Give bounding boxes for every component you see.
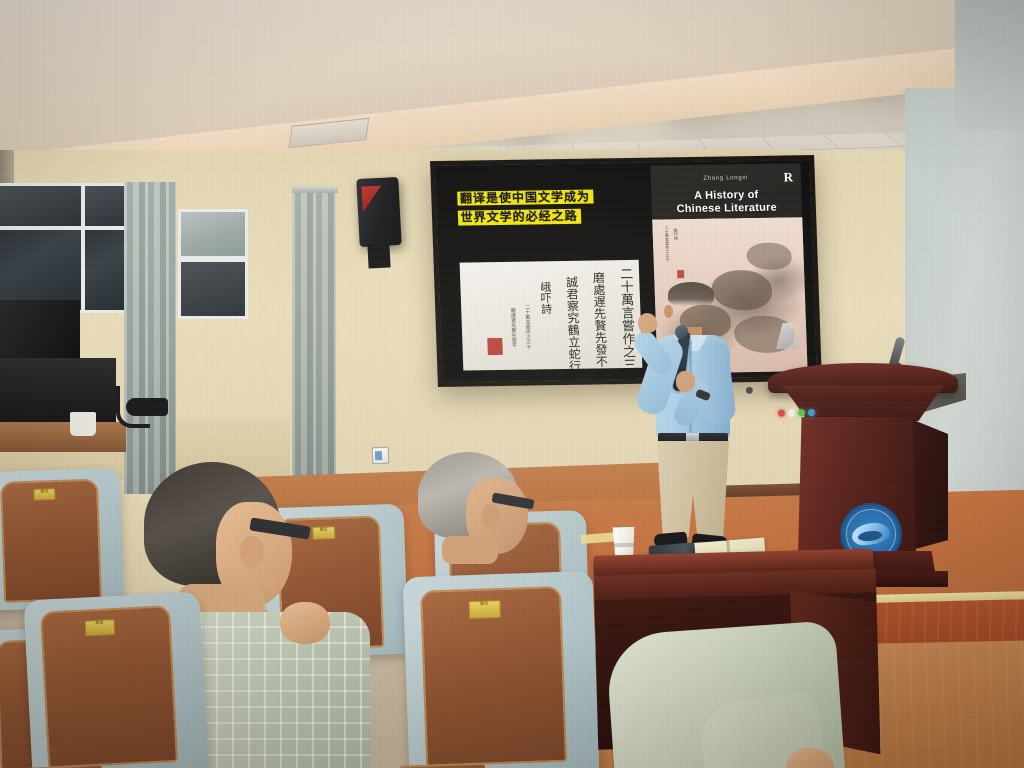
window-pane-frosted <box>178 209 248 259</box>
right-wall-upper <box>955 0 1024 130</box>
attendee-front-left-ear <box>240 536 264 568</box>
presenter <box>640 285 744 553</box>
podium-front-panel <box>798 417 916 557</box>
calligraphy-column-1: 二十萬言嘗作之三千 <box>618 267 634 371</box>
window-pane-upper-3 <box>178 259 248 319</box>
book-art-inscription-2: 峨吓詩 <box>674 229 678 241</box>
seat-number-plaque: 座位 <box>33 488 56 501</box>
paper-cup-band <box>613 543 635 548</box>
presenter-ear <box>664 305 673 318</box>
indicator-light-red[interactable] <box>778 409 785 416</box>
calligraphy-inscription-1: 二十萬言嘗作之三千 <box>524 305 530 350</box>
calligraphy-seal-icon <box>487 338 503 355</box>
corner-cup <box>70 412 96 436</box>
indicator-light-blue[interactable] <box>808 409 815 416</box>
calligraphy-image: 二十萬言嘗作之三千 磨處遅先贅先發不 誠君察究鶴立蛇行 峨吓詩 二十萬言嘗作之三… <box>459 260 642 371</box>
seat-number-plaque: 座位 <box>84 619 115 637</box>
speaker-bracket <box>367 243 390 268</box>
av-equipment <box>0 358 116 432</box>
seat-front-2[interactable]: 座位 <box>23 592 208 768</box>
curtain-right <box>292 190 336 490</box>
book-art-inscription-1: 二十萬言嘗作之三千 <box>664 226 669 262</box>
lecture-hall-photo: 翻译是使中国文学成为 世界文学的必经之路 二十萬言嘗作之三千 磨處遅先贅先發不 … <box>0 0 1024 768</box>
ink-mountain-3 <box>746 242 792 270</box>
slide-highlight-line-1: 翻译是使中国文学成为 <box>457 189 594 206</box>
presenter-hair <box>668 282 714 306</box>
book-title-line-2: Chinese Literature <box>676 201 777 215</box>
calligraphy-inscription-2: 磨處遅先贅先發不 <box>510 307 516 347</box>
attendee-middle-neck <box>442 536 498 564</box>
slide-content: 翻译是使中国文学成为 世界文学的必经之路 二十萬言嘗作之三千 磨處遅先贅先發不 … <box>435 160 817 382</box>
indicator-light-green[interactable] <box>798 409 805 416</box>
attendee-middle-ear <box>482 504 500 528</box>
window-pane-upper-1 <box>0 183 84 229</box>
book-author: Zhang Longxi <box>651 174 801 182</box>
slide-highlight-line-2: 世界文学的必经之路 <box>457 209 581 226</box>
indicator-light-white[interactable] <box>788 409 795 416</box>
presenter-right-hand <box>676 371 695 392</box>
podium-indicator-lights[interactable] <box>778 407 858 416</box>
presenter-trousers <box>657 441 729 537</box>
attendee-right <box>610 628 840 768</box>
projection-screen: 翻译是使中国文学成为 世界文学的必经之路 二十萬言嘗作之三千 磨處遅先贅先發不 … <box>430 155 822 387</box>
podium-lip <box>774 385 952 403</box>
attendee-front-left-hand <box>280 602 330 644</box>
calligraphy-column-2: 磨處遅先贅先發不 <box>592 271 607 367</box>
calligraphy-column-3: 誠君察究鶴立蛇行 <box>565 276 580 371</box>
power-outlet-icon[interactable] <box>372 447 390 465</box>
equipment-table <box>0 422 126 452</box>
seat-number-plaque: 座位 <box>468 600 501 619</box>
book-art-seal-icon <box>676 270 683 278</box>
slide-highlight-block: 翻译是使中国文学成为 世界文学的必经之路 <box>457 187 643 255</box>
seat-back-1[interactable]: 座位 <box>0 468 124 611</box>
calligraphy-column-4: 峨吓詩 <box>539 281 550 314</box>
book-title-line-1: A History of <box>694 189 759 202</box>
book-title: A History of Chinese Literature <box>657 188 796 215</box>
curtain-rod <box>292 186 338 193</box>
seat-front-3[interactable]: 座位 <box>403 571 600 768</box>
av-bracket <box>126 398 168 416</box>
curtain-left <box>124 182 176 494</box>
